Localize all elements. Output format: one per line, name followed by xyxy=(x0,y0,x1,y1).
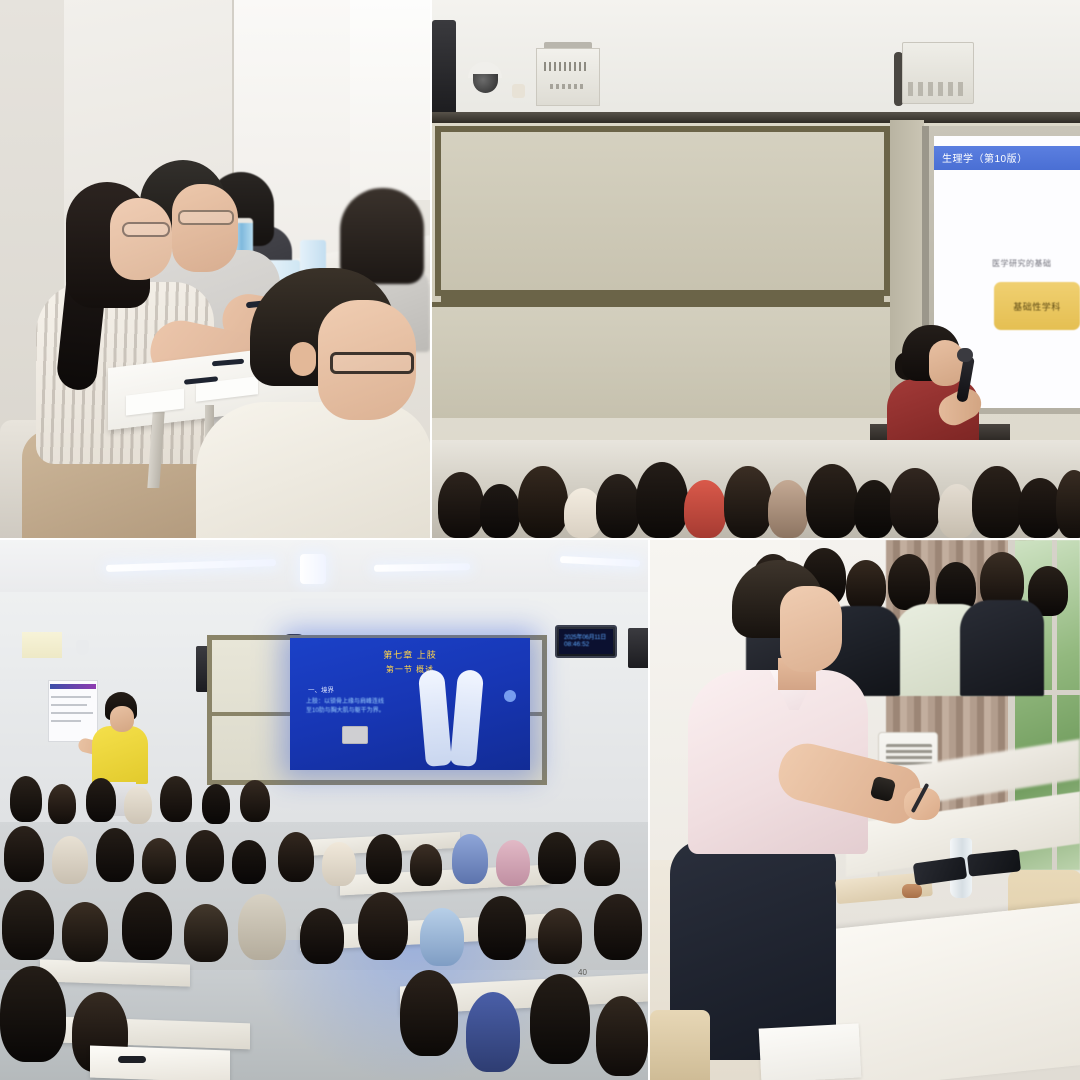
student-audience-strip xyxy=(432,440,1080,538)
student-head xyxy=(240,780,270,822)
student-head xyxy=(202,784,230,824)
student-body-dark xyxy=(960,600,1044,696)
wall-speaker xyxy=(432,20,456,118)
teacher-face xyxy=(110,706,134,732)
student-head xyxy=(452,834,488,884)
lecturer-with-microphone-panel: 生理学（第10版） 医学研究的基础 基础性学科 xyxy=(432,0,1080,440)
student-head xyxy=(160,776,192,822)
slide-title: 第七章 上肢 xyxy=(383,648,437,661)
sensor-icon xyxy=(512,84,525,98)
student-head xyxy=(636,462,688,538)
student-head xyxy=(888,554,930,610)
student-head xyxy=(724,466,772,538)
arm-right-graphic xyxy=(450,669,484,767)
clock-date: 2025年06月11日 xyxy=(564,632,606,641)
student-head xyxy=(122,892,172,960)
student-head xyxy=(496,840,530,886)
arm-left-graphic xyxy=(418,669,452,767)
slide-highlight-box: 基础性学科 xyxy=(994,282,1080,330)
slide-section: 一、境界 xyxy=(308,684,334,694)
ceiling-speaker xyxy=(628,628,648,668)
student-head-foreground xyxy=(0,966,66,1062)
student-head xyxy=(410,844,442,886)
student-head xyxy=(142,838,176,884)
student-head-foreground xyxy=(596,996,648,1076)
student-head xyxy=(96,828,134,882)
student-head-light xyxy=(52,836,88,884)
ceiling-trim xyxy=(432,112,1080,123)
student-head xyxy=(594,894,642,960)
eyeglasses-icon xyxy=(178,210,234,225)
student-head xyxy=(4,826,44,882)
wall-box-label xyxy=(550,84,584,89)
student-head xyxy=(232,840,266,884)
foreground-student-ear xyxy=(290,342,316,376)
student-head-light xyxy=(124,786,152,824)
student-head xyxy=(596,474,640,538)
notice-board-header xyxy=(50,684,96,689)
student-head xyxy=(806,464,858,538)
ceiling xyxy=(432,0,1080,118)
student-head-foreground xyxy=(466,992,520,1072)
eyeglasses-icon xyxy=(330,352,414,374)
slide-bullet-icon xyxy=(504,690,516,702)
microphone-head-icon xyxy=(957,348,973,362)
notice-line xyxy=(51,696,91,698)
student-head xyxy=(62,902,108,962)
air-conditioner-vent xyxy=(908,82,966,96)
wall-control-box xyxy=(536,48,600,106)
student-head-light xyxy=(938,484,976,538)
student-head xyxy=(420,908,464,966)
notice-board xyxy=(48,680,98,742)
student-head xyxy=(890,468,940,538)
wooden-chair xyxy=(650,1010,710,1080)
whiteboard-upper xyxy=(435,126,890,296)
student-head xyxy=(48,784,76,824)
teaching-observation-panel xyxy=(0,0,430,538)
anatomy-arms-graphic xyxy=(412,670,490,766)
whiteboard-lower xyxy=(432,302,893,418)
observer-rear-hair xyxy=(340,188,424,284)
student-head-foreground xyxy=(400,970,458,1056)
clock-screen: 2025年06月11日 08:46:52 xyxy=(559,629,613,654)
student-head-light xyxy=(238,894,286,960)
observer-woman-face xyxy=(110,198,172,280)
eyeglasses-icon xyxy=(122,222,170,237)
notice-line xyxy=(51,720,81,722)
student-head xyxy=(972,466,1022,538)
digital-wall-clock: 2025年06月11日 08:46:52 xyxy=(555,625,617,658)
slide-body-text: 医学研究的基础 xyxy=(992,258,1052,269)
student-head xyxy=(2,890,54,960)
student-head xyxy=(518,466,568,538)
projected-slide: 第七章 上肢 第一节 概述 一、境界 上肢：以锁骨上缘与肩峰连线 至10肋与胸大… xyxy=(290,638,530,770)
notice-line xyxy=(51,712,93,714)
observer-man-face xyxy=(172,184,238,272)
student-desk-front xyxy=(90,1046,230,1080)
student-head xyxy=(10,776,42,822)
slide-header-bar: 生理学（第10版） xyxy=(934,146,1080,170)
students-writing-panel xyxy=(650,540,1080,1080)
foreground-student-body xyxy=(196,402,430,538)
student-head xyxy=(538,832,576,884)
student-head-light xyxy=(322,842,356,886)
student-head xyxy=(438,472,484,538)
slide-header-text: 生理学（第10版） xyxy=(942,150,1028,165)
slide-highlight-text: 基础性学科 xyxy=(1013,300,1061,313)
student-head xyxy=(186,830,224,882)
student-head xyxy=(358,892,408,960)
student-head-foreground xyxy=(530,974,590,1064)
slide-body: 上肢：以锁骨上缘与肩峰连线 至10肋与胸大肌与躯干为界。 xyxy=(306,698,385,716)
wall-poster xyxy=(22,632,62,658)
student-head xyxy=(1056,470,1080,538)
photo-collage: 生理学（第10版） 医学研究的基础 基础性学科 xyxy=(0,0,1080,1080)
student-head xyxy=(86,778,116,822)
desk-handle xyxy=(118,1056,146,1063)
student-head-red-top xyxy=(684,480,726,538)
note-paper xyxy=(759,1023,862,1080)
student-head xyxy=(854,480,894,538)
student-head xyxy=(184,904,228,962)
lecture-hall-wide-panel: 第七章 上肢 第一节 概述 一、境界 上肢：以锁骨上缘与肩峰连线 至10肋与胸大… xyxy=(0,540,648,1080)
student-head xyxy=(480,484,520,538)
wall-box-vent xyxy=(544,62,588,71)
student-head xyxy=(366,834,402,884)
wall-outlet xyxy=(342,726,368,744)
student-face xyxy=(780,586,842,672)
clock-time: 08:46:52 xyxy=(564,641,589,648)
eraser xyxy=(902,884,922,898)
student-head xyxy=(278,832,314,882)
student-head xyxy=(768,480,808,538)
student-head xyxy=(300,908,344,964)
ceiling-light xyxy=(300,554,326,584)
student-head xyxy=(538,908,582,964)
student-head xyxy=(846,560,886,612)
student-head xyxy=(584,840,620,886)
student-head xyxy=(478,896,526,960)
seat-number: 40 xyxy=(578,968,587,977)
teacher-body xyxy=(92,726,148,784)
sensor-icon xyxy=(76,640,89,655)
notice-line xyxy=(51,704,87,706)
